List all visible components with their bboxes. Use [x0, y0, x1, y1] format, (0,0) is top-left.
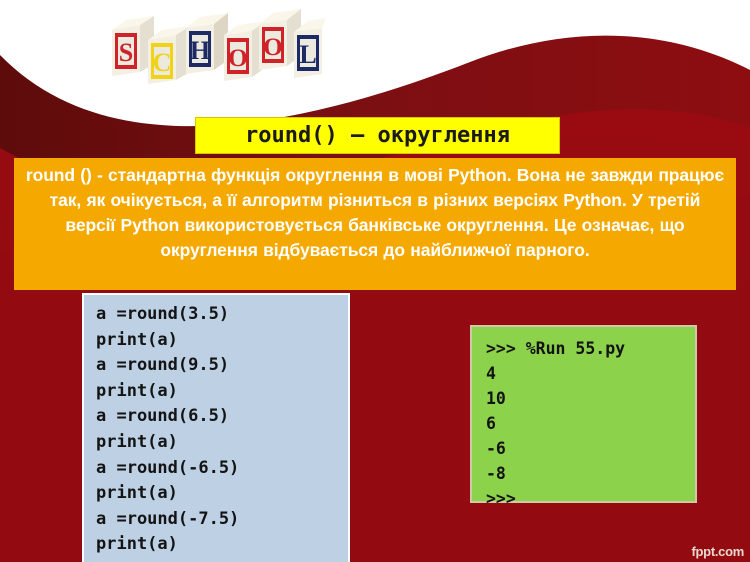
- code-line: a =round(6.5): [96, 404, 348, 430]
- page-title: round() — округлення: [245, 123, 510, 148]
- description-panel: round () - стандартна функція округлення…: [14, 158, 736, 290]
- output-line: >>>: [486, 486, 695, 511]
- svg-text:S: S: [119, 38, 133, 67]
- svg-text:L: L: [299, 40, 316, 69]
- description-text: round () - стандартна функція округлення…: [24, 163, 726, 263]
- output-line: -8: [486, 461, 695, 486]
- output-line: 4: [486, 361, 695, 386]
- code-line: a =round(-7.5): [96, 507, 348, 533]
- code-panel: a =round(3.5) print(a) a =round(9.5) pri…: [82, 293, 350, 562]
- code-line: print(a): [96, 532, 348, 558]
- output-line: -6: [486, 436, 695, 461]
- output-line: 10: [486, 386, 695, 411]
- svg-text:O: O: [263, 34, 282, 61]
- svg-text:H: H: [190, 36, 210, 65]
- svg-text:O: O: [228, 45, 247, 72]
- code-line: print(a): [96, 481, 348, 507]
- code-line: print(a): [96, 430, 348, 456]
- slide-canvas: S C H O: [0, 0, 750, 562]
- code-line: print(a): [96, 379, 348, 405]
- output-console-panel: >>> %Run 55.py 4 10 6 -6 -8 >>>: [470, 325, 697, 503]
- code-line: a =round(9.5): [96, 353, 348, 379]
- school-blocks-image: S C H O: [96, 0, 326, 88]
- code-line: a =round(3.5): [96, 302, 348, 328]
- svg-text:C: C: [153, 48, 172, 77]
- output-line: >>> %Run 55.py: [486, 336, 695, 361]
- code-line: print(a): [96, 328, 348, 354]
- slide-title-box: round() — округлення: [195, 117, 560, 154]
- code-line: a =round(-6.5): [96, 456, 348, 482]
- watermark-label: fppt.com: [692, 544, 744, 559]
- output-line: 6: [486, 411, 695, 436]
